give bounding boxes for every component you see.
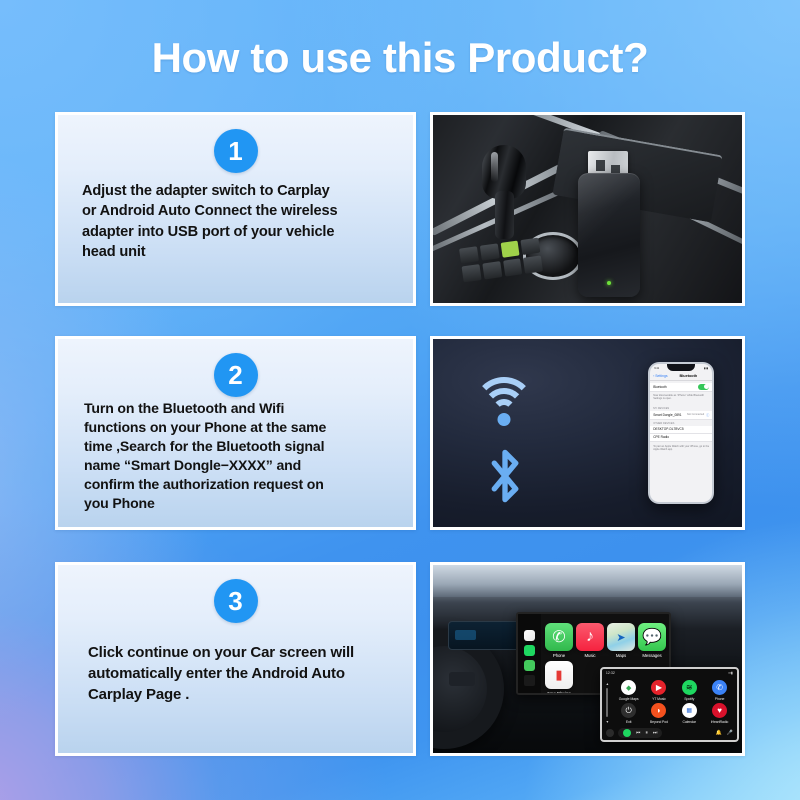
step-1-description: Adjust the adapter switch to Carplay or … xyxy=(82,181,397,262)
carplay-app-label: Maps xyxy=(616,653,626,658)
carplay-app-label: Music xyxy=(585,653,596,658)
carplay-app-label: Phone xyxy=(553,653,565,658)
gear-shifter xyxy=(482,145,526,241)
pair-watch-footer: To pair an Apple Watch with your iPhone,… xyxy=(653,445,709,452)
google-maps-icon: ◆ xyxy=(621,680,636,695)
my-devices-header: MY DEVICES xyxy=(653,407,669,410)
step-3-text-card: 3 Click continue on your Car screen will… xyxy=(55,562,416,756)
other-devices-header: OTHER DEVICES xyxy=(653,422,674,425)
carplay-sidebar-spotify-icon[interactable] xyxy=(524,645,535,656)
carplay-app-phone[interactable]: ✆ Phone xyxy=(545,623,573,658)
step-2-text-card: 2 Turn on the Bluetooth and Wifi functio… xyxy=(55,336,416,530)
phone-nav-bar: ‹ Settings Bluetooth xyxy=(650,373,712,381)
android-auto-app-calendar[interactable]: ▦ Calendar xyxy=(675,703,704,725)
exit-icon: ⏻ xyxy=(621,703,636,718)
other-device-name: DESKTOP-DL7BVC5 xyxy=(653,427,683,431)
carplay-sidebar[interactable] xyxy=(518,614,541,693)
android-auto-taskbar[interactable]: ⏮ ⏸ ⏭ 🔔 🎤 xyxy=(602,726,737,740)
other-device-name: CPE Radio xyxy=(653,435,669,439)
back-button[interactable]: ‹ Settings xyxy=(653,374,667,378)
wifi-bluetooth-phone-photo: 9:41 ▮▮▮ ‹ Settings Bluetooth Bluetooth … xyxy=(433,339,742,527)
wireless-adapter-dongle xyxy=(578,173,640,297)
paired-device-status: Not Connected xyxy=(687,413,704,416)
carplay-sidebar-maps-icon[interactable] xyxy=(524,630,535,641)
carplay-app-messages[interactable]: 💬 Messages xyxy=(638,623,666,658)
android-auto-time: 12:32 xyxy=(606,671,615,675)
android-auto-home-icon[interactable] xyxy=(606,729,614,737)
maps-pin-icon: ➤ xyxy=(607,623,635,651)
carplay-app-music[interactable]: ♪ Music xyxy=(576,623,604,658)
spotify-icon[interactable] xyxy=(623,729,631,737)
step-1-number-badge: 1 xyxy=(214,129,258,173)
chevron-up-icon[interactable]: ▴ xyxy=(606,681,608,686)
android-auto-app-label: iHeartRadio xyxy=(711,720,728,724)
android-auto-right-controls[interactable]: 🔔 🎤 xyxy=(715,730,732,736)
status-icons: ▮▮▮ xyxy=(704,367,708,370)
android-auto-scroll-rail[interactable]: ▴ ▾ xyxy=(604,681,611,724)
spotify-icon: ≋ xyxy=(682,680,697,695)
android-auto-app-label: Beyond Pod xyxy=(650,720,668,724)
info-icon[interactable]: ⓘ xyxy=(706,413,709,417)
other-device-row[interactable]: DESKTOP-DL7BVC5 xyxy=(650,426,712,434)
paired-device-name: Smart Dongle_0891 xyxy=(653,413,681,417)
step-3-number-badge: 3 xyxy=(214,579,258,623)
phone-notch xyxy=(667,364,695,371)
smartphone-mockup: 9:41 ▮▮▮ ‹ Settings Bluetooth Bluetooth … xyxy=(648,362,714,505)
paired-device-row[interactable]: Smart Dongle_0891 Not Connected ⓘ xyxy=(650,411,712,420)
android-auto-app-iheartradio[interactable]: ♥ iHeartRadio xyxy=(705,703,734,725)
step-2-description: Turn on the Bluetooth and Wifi functions… xyxy=(84,399,397,513)
carplay-app-nowplaying[interactable]: ▮ Now Playing xyxy=(545,661,573,694)
step-2-image-card: 9:41 ▮▮▮ ‹ Settings Bluetooth Bluetooth … xyxy=(430,336,745,530)
carplay-sidebar-phone-icon[interactable] xyxy=(524,660,535,671)
android-auto-app-label: Exit xyxy=(626,720,631,724)
notification-bell-icon[interactable]: 🔔 xyxy=(715,730,721,736)
step-row-2: 2 Turn on the Bluetooth and Wifi functio… xyxy=(55,336,745,530)
android-auto-app-label: Google Maps xyxy=(619,697,639,701)
next-track-icon[interactable]: ⏭ xyxy=(653,730,658,736)
android-auto-app-phone[interactable]: ✆ Phone xyxy=(705,680,734,702)
chevron-down-icon[interactable]: ▾ xyxy=(606,719,608,724)
status-time: 9:41 xyxy=(654,367,659,370)
messages-bubble-icon: 💬 xyxy=(638,623,666,651)
calendar-icon: ▦ xyxy=(682,703,697,718)
android-auto-app-spotify[interactable]: ≋ Spotify xyxy=(675,680,704,702)
android-auto-app-grid[interactable]: ◆ Google Maps ▶ YT Music ≋ Spotify ✆ xyxy=(614,680,734,725)
wifi-icon xyxy=(473,377,535,425)
android-auto-media-controls[interactable]: ⏮ ⏸ ⏭ xyxy=(618,728,663,738)
android-auto-app-beyondpod[interactable]: ◗ Beyond Pod xyxy=(644,703,673,725)
other-device-row[interactable]: CPE Radio xyxy=(650,434,712,442)
step-1-image-card xyxy=(430,112,745,306)
android-auto-app-label: Calendar xyxy=(683,720,696,724)
bluetooth-toggle-switch[interactable] xyxy=(698,384,709,390)
car-console-usb-dongle-photo xyxy=(433,115,742,303)
music-note-icon: ♪ xyxy=(576,623,604,651)
pause-icon[interactable]: ⏸ xyxy=(645,730,648,736)
beyondpod-icon: ◗ xyxy=(651,703,666,718)
previous-track-icon[interactable]: ⏮ xyxy=(636,730,641,736)
step-row-3: 3 Click continue on your Car screen will… xyxy=(55,562,745,756)
android-auto-app-label: Phone xyxy=(715,697,725,701)
bluetooth-toggle-row[interactable]: Bluetooth xyxy=(650,383,712,392)
bluetooth-discoverable-note: Now discoverable as “iPhone” while Bluet… xyxy=(653,394,709,401)
step-row-1: 1 Adjust the adapter switch to Carplay o… xyxy=(55,112,745,306)
bluetooth-toggle-label: Bluetooth xyxy=(653,385,666,389)
android-auto-app-label: YT Music xyxy=(652,697,666,701)
page-title: How to use this Product? xyxy=(0,34,800,82)
phone-icon: ✆ xyxy=(712,680,727,695)
carplay-app-label: Messages xyxy=(642,653,661,658)
android-auto-app-exit[interactable]: ⏻ Exit xyxy=(614,703,643,725)
instrument-cluster xyxy=(448,621,519,649)
carplay-app-label: Now Playing xyxy=(547,691,570,694)
carplay-sidebar-dock-icon[interactable] xyxy=(524,675,535,686)
phone-icon: ✆ xyxy=(545,623,573,651)
carplay-app-maps[interactable]: ➤ Maps xyxy=(607,623,635,658)
console-buttons xyxy=(459,237,543,282)
status-icons: ▪▪▮ xyxy=(728,671,733,675)
step-1-text-card: 1 Adjust the adapter switch to Carplay o… xyxy=(55,112,416,306)
now-playing-icon: ▮ xyxy=(545,661,573,689)
iheartradio-icon: ♥ xyxy=(712,703,727,718)
android-auto-app-label: Spotify xyxy=(684,697,694,701)
car-dashboard-carplay-androidauto-photo: 10:13 5G ✆ Phone ♪ xyxy=(433,565,742,753)
nav-title: Bluetooth xyxy=(680,374,698,378)
status-led-icon xyxy=(607,281,611,285)
android-auto-app-yt-music[interactable]: ▶ YT Music xyxy=(644,680,673,702)
step-3-image-card: 10:13 5G ✆ Phone ♪ xyxy=(430,562,745,756)
android-auto-status-bar: 12:32 ▪▪▮ xyxy=(602,669,737,678)
step-3-description: Click continue on your Car screen will a… xyxy=(88,643,397,706)
android-auto-app-google-maps[interactable]: ◆ Google Maps xyxy=(614,680,643,702)
youtube-music-icon: ▶ xyxy=(651,680,666,695)
step-2-number-badge: 2 xyxy=(214,353,258,397)
android-auto-screen[interactable]: 12:32 ▪▪▮ ▴ ▾ ◆ Google Maps xyxy=(600,667,739,742)
bluetooth-icon xyxy=(482,446,528,506)
microphone-icon[interactable]: 🎤 xyxy=(727,730,733,736)
scrollbar-thumb[interactable] xyxy=(606,688,608,717)
